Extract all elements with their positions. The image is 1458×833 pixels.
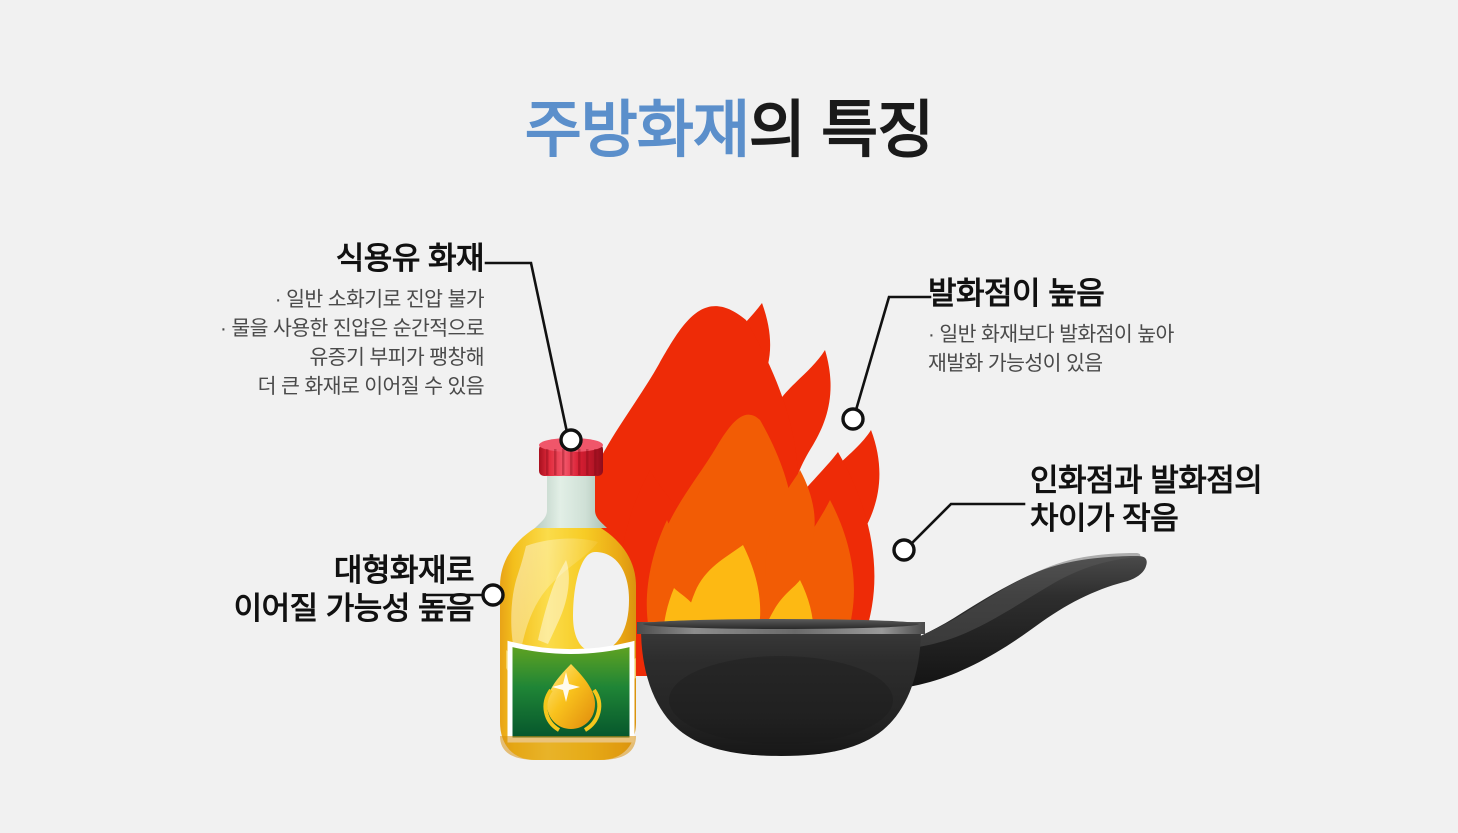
pan-inner-shadow — [669, 656, 893, 744]
leader-line-oil-fire — [486, 263, 568, 437]
pan-rim-inner — [643, 619, 919, 629]
callout-oil-fire: 식용유 화재 · 일반 소화기로 진압 불가 · 물을 사용한 진압은 순간적으… — [18, 240, 484, 401]
leader-line-high-ignition — [856, 297, 930, 410]
callout-oil-fire-heading: 식용유 화재 — [18, 240, 484, 278]
leader-line-small-diff — [912, 504, 1024, 543]
callout-high-ignition-body: · 일반 화재보다 발화점이 높아 재발화 가능성이 있음 — [928, 320, 1398, 378]
callout-large-fire: 대형화재로 이어질 가능성 높음 — [18, 552, 474, 628]
leader-dot-oil-fire[interactable] — [561, 430, 581, 450]
callout-high-ignition: 발화점이 높음 · 일반 화재보다 발화점이 높아 재발화 가능성이 있음 — [928, 275, 1398, 378]
leader-dot-high-ignition[interactable] — [843, 409, 863, 429]
callout-small-diff: 인화점과 발화점의 차이가 작음 — [1030, 462, 1450, 538]
leader-dot-small-diff[interactable] — [894, 540, 914, 560]
bottle-bottom-shade — [500, 736, 636, 760]
illustration-art — [0, 0, 1458, 833]
infographic-canvas: 주방화재의 특징 — [0, 0, 1458, 833]
callout-large-fire-heading: 대형화재로 이어질 가능성 높음 — [18, 552, 474, 628]
callout-oil-fire-body: · 일반 소화기로 진압 불가 · 물을 사용한 진압은 순간적으로 유증기 부… — [18, 285, 484, 401]
leader-dot-large-fire[interactable] — [483, 585, 503, 605]
callout-high-ignition-heading: 발화점이 높음 — [928, 275, 1398, 313]
callout-small-diff-heading: 인화점과 발화점의 차이가 작음 — [1030, 462, 1450, 538]
